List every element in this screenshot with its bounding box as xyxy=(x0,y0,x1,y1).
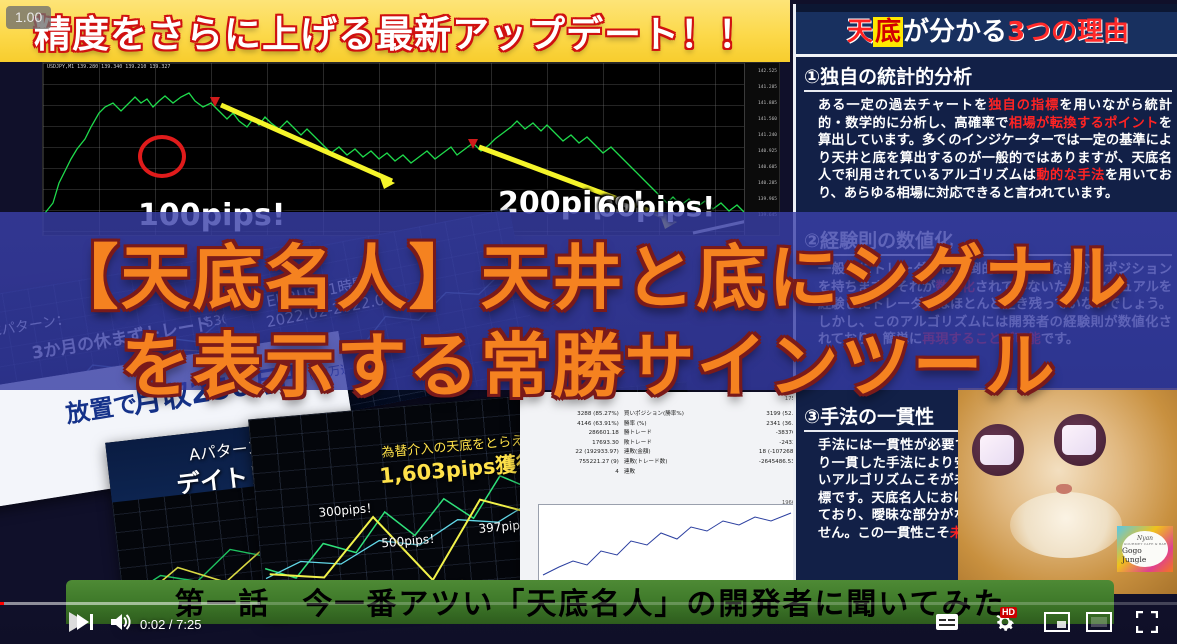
progress-bar[interactable] xyxy=(0,602,1177,605)
title-line-2: を表示する常勝サインツール xyxy=(0,310,1177,411)
doc-header-part-2: 底 xyxy=(873,17,903,47)
fullscreen-button[interactable] xyxy=(1130,606,1164,638)
theater-mode-icon xyxy=(1086,612,1112,632)
cat-nose xyxy=(1056,484,1072,494)
document-header: 天底が分かる3つの理由 xyxy=(796,12,1177,57)
table-row: 3288 (85.27%)買いポジション(勝率%)3199 (52.52%) xyxy=(520,410,812,420)
title-line-1: 【天底名人】天井と底にシグナル xyxy=(0,222,1177,323)
time-display: 0:02 / 7:25 xyxy=(140,617,201,632)
player-controls[interactable]: 0:02 / 7:25 HD xyxy=(0,600,1177,644)
miniplayer-button[interactable] xyxy=(1040,606,1074,638)
highlight-circle-icon xyxy=(138,135,186,178)
video-surface[interactable]: USDJPY,M1 139.280 139.340 139.210 139.32… xyxy=(0,0,1177,644)
table-row: 755221.27 (9)連敗(トレード数)-2645486.53 (12) xyxy=(520,458,812,468)
next-track-icon xyxy=(75,612,95,632)
watermark-bottom: Gogo Jungle xyxy=(1122,546,1168,564)
miniplayer-icon xyxy=(1044,612,1070,632)
volume-button[interactable] xyxy=(104,606,138,638)
playback-speed-badge: 1.00 xyxy=(6,6,51,29)
table-row: 17693.30敗トレード-24333.09 xyxy=(520,439,812,449)
panel-top-band xyxy=(796,4,1177,12)
closed-captions-icon xyxy=(935,613,959,631)
doc-header-part-4: 3つの理由 xyxy=(1007,17,1129,47)
doc-header-part-3: が分かる xyxy=(903,17,1007,47)
doc-section-1-title: ①独自の統計的分析 xyxy=(804,62,1172,92)
fullscreen-icon xyxy=(1136,611,1158,633)
doc-section-1: ①独自の統計的分析 ある一定の過去チャートを独自の指標を用いながら統計的・数学的… xyxy=(804,62,1172,202)
table-row: 4連敗2 xyxy=(520,468,812,478)
progress-played xyxy=(0,602,4,605)
hd-badge: HD xyxy=(1000,607,1017,618)
table-row: 22 (192933.97)連敗(金額)18 (-1072686.43) xyxy=(520,448,812,458)
card-backtest-report: 3288 (85.27%)買いポジション(勝率%)3199 (52.52%) 4… xyxy=(520,392,812,592)
price-scale: 142.525141.285141.885 141.560141.240140.… xyxy=(744,63,779,235)
update-banner: 精度をさらに上げる最新アップデート！！ xyxy=(0,0,790,62)
doc-header-part-1: 天 xyxy=(847,17,873,47)
doc-section-1-body: ある一定の過去チャートを独自の指標を用いながら統計的・数学的に分析し、高確率で相… xyxy=(804,97,1172,202)
subtitles-button[interactable] xyxy=(930,606,964,638)
video-player[interactable]: USDJPY,M1 139.280 139.340 139.210 139.32… xyxy=(0,0,1177,644)
table-row: 286601.18勝トレード-383769.82 xyxy=(520,429,812,439)
next-button[interactable] xyxy=(68,606,102,638)
cat-eye-right xyxy=(1054,414,1106,466)
report-table: 3288 (85.27%)買いポジション(勝率%)3199 (52.52%) 4… xyxy=(520,392,812,592)
theater-button[interactable] xyxy=(1082,606,1116,638)
table-row: 4146 (63.91%)勝率 (%)2341 (36.09%) xyxy=(520,420,812,430)
cat-photo: Nyan GOURMET CAFE & BAR Gogo Jungle xyxy=(958,388,1177,594)
watermark-top: Nyan xyxy=(1137,535,1153,542)
progress-loaded xyxy=(0,602,260,605)
update-banner-text: 精度をさらに上げる最新アップデート！！ xyxy=(0,4,790,58)
equity-curve xyxy=(538,504,796,586)
cat-muzzle xyxy=(1010,492,1122,558)
channel-watermark: Nyan GOURMET CAFE & BAR Gogo Jungle xyxy=(1117,526,1173,572)
cat-eye-left xyxy=(972,424,1024,476)
volume-icon xyxy=(110,612,132,632)
